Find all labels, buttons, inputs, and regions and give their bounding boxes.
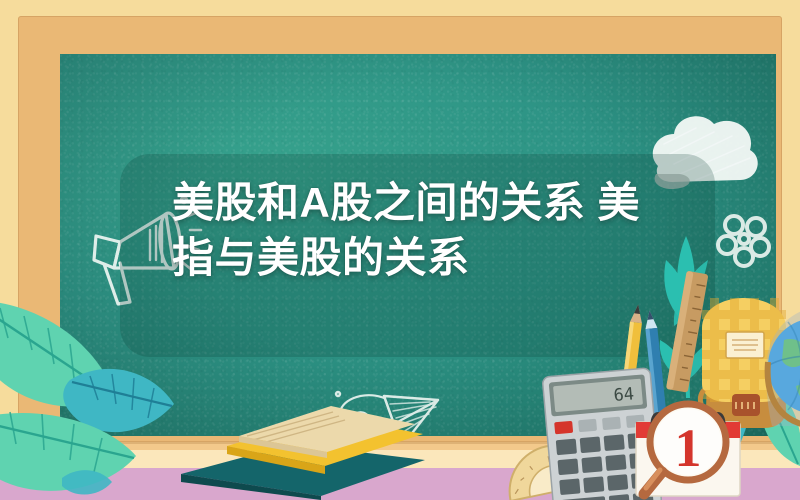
magnifying-glass: 1 xyxy=(636,398,746,500)
globe xyxy=(762,300,800,435)
calendar-day-number: 1 xyxy=(675,418,702,478)
stacked-books xyxy=(175,400,435,500)
cover-image-canvas: 美股和A股之间的关系 美指与美股的关系 xyxy=(0,0,800,500)
page-title: 美股和A股之间的关系 美指与美股的关系 xyxy=(172,176,642,285)
